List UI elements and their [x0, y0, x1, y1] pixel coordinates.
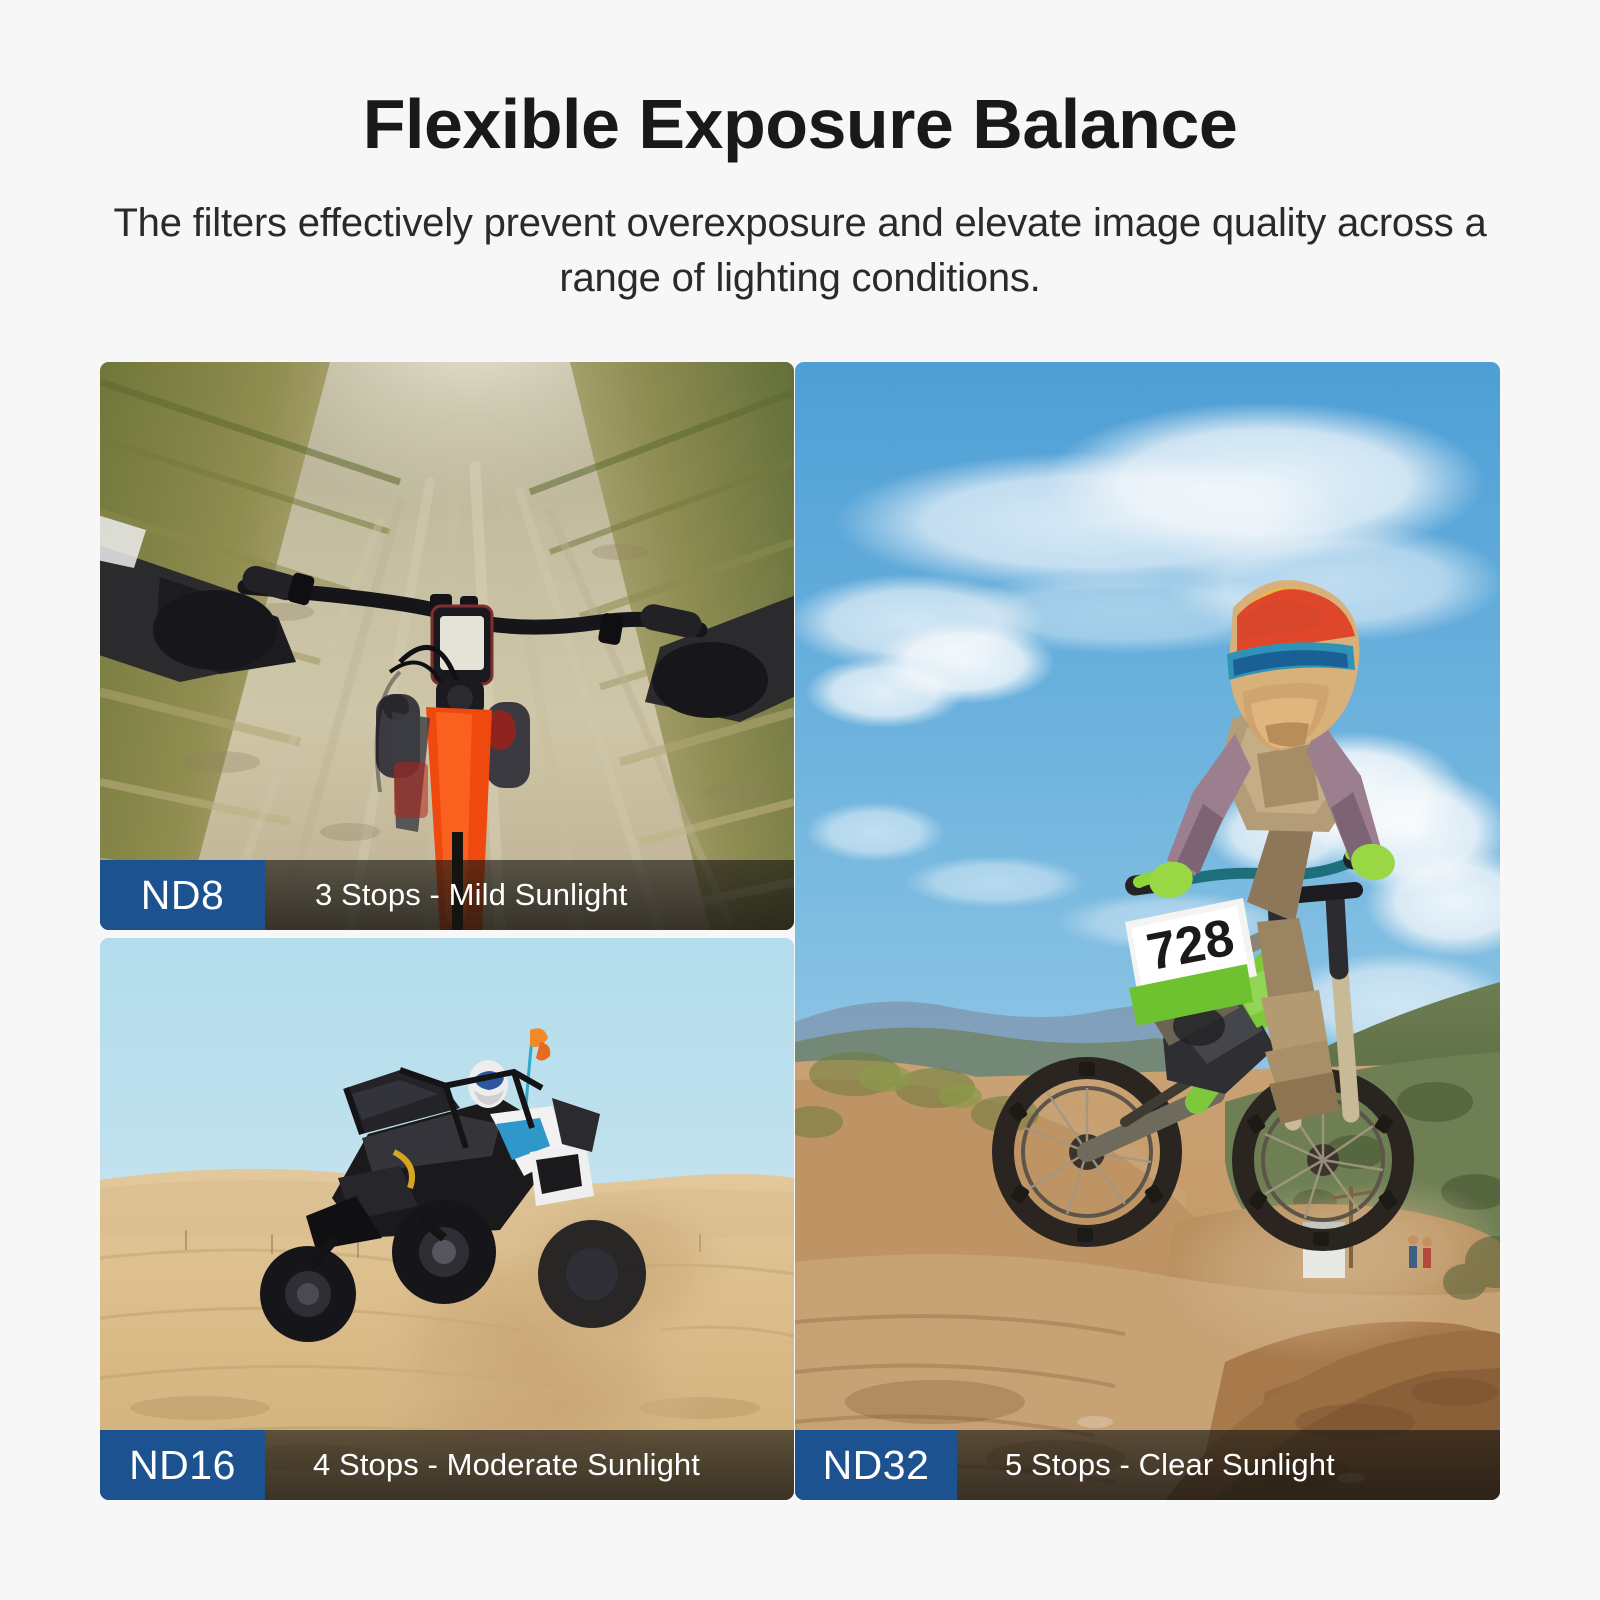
caption-bar-nd16: ND16 4 Stops - Moderate Sunlight [100, 1430, 794, 1500]
photo-dune-buggy [100, 938, 794, 1500]
header-block: Flexible Exposure Balance The filters ef… [100, 88, 1500, 306]
product-feature-page: Flexible Exposure Balance The filters ef… [0, 0, 1600, 1600]
grid-column-right: 728 [795, 362, 1500, 1500]
page-subtitle: The filters effectively prevent overexpo… [100, 196, 1500, 306]
badge-nd16: ND16 [100, 1430, 265, 1500]
photo-motocross: 728 [795, 362, 1500, 1500]
badge-nd8: ND8 [100, 860, 265, 930]
sample-card-nd8[interactable]: ND8 3 Stops - Mild Sunlight [100, 362, 794, 930]
page-title: Flexible Exposure Balance [100, 88, 1500, 162]
sample-card-nd32[interactable]: 728 [795, 362, 1500, 1500]
caption-bar-nd32: ND32 5 Stops - Clear Sunlight [795, 1430, 1500, 1500]
sample-card-nd16[interactable]: ND16 4 Stops - Moderate Sunlight [100, 938, 794, 1500]
photo-mountain-bike [100, 362, 794, 930]
caption-text-nd32: 5 Stops - Clear Sunlight [957, 1430, 1500, 1500]
caption-text-nd16: 4 Stops - Moderate Sunlight [265, 1430, 794, 1500]
caption-bar-nd8: ND8 3 Stops - Mild Sunlight [100, 860, 794, 930]
caption-text-nd8: 3 Stops - Mild Sunlight [265, 860, 794, 930]
sample-image-grid: ND8 3 Stops - Mild Sunlight [100, 362, 1500, 1500]
grid-column-left: ND8 3 Stops - Mild Sunlight [100, 362, 794, 1500]
badge-nd32: ND32 [795, 1430, 957, 1500]
